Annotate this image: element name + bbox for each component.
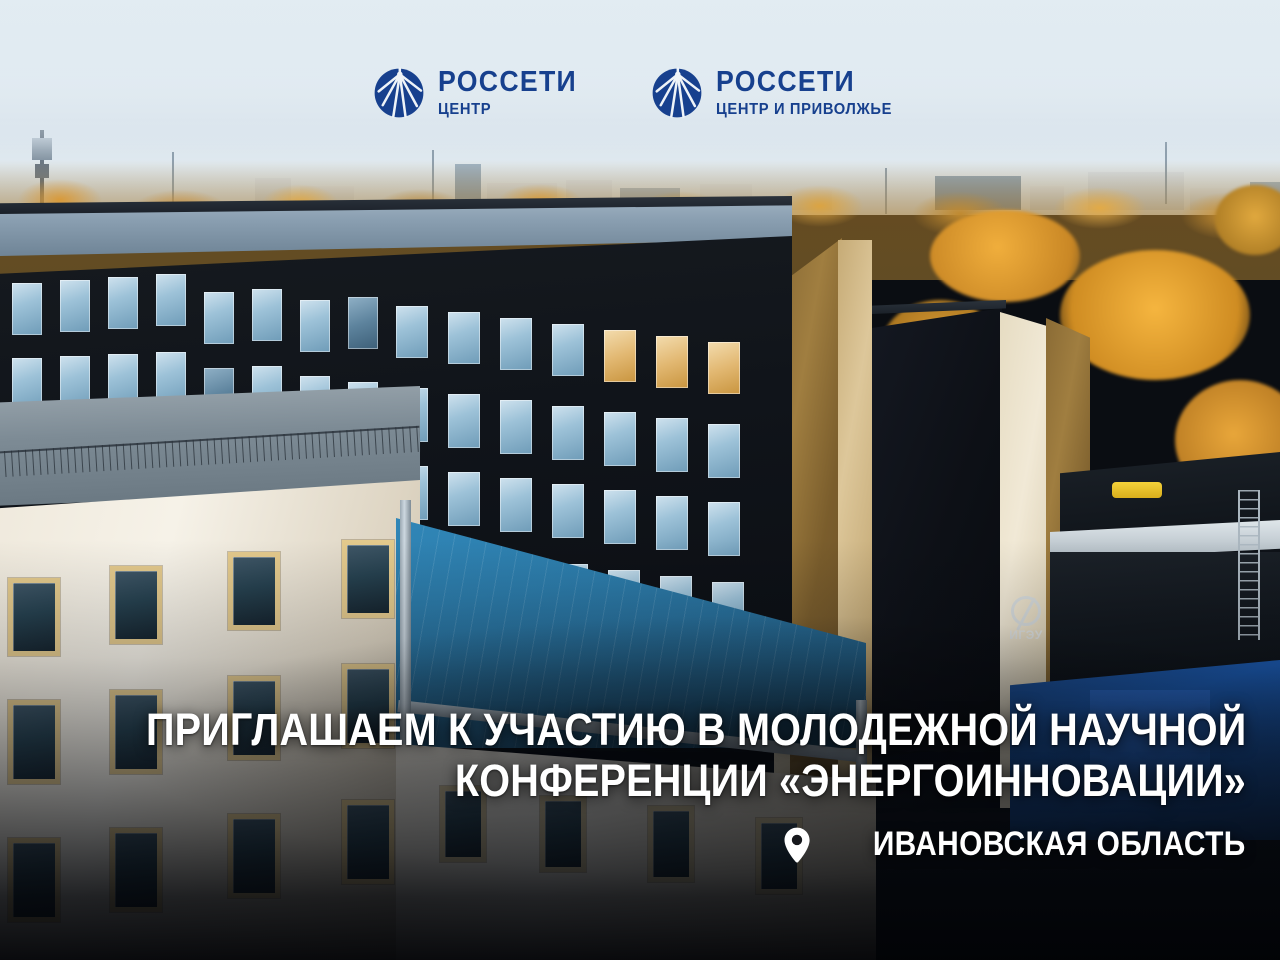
- logo-subtitle: ЦЕНТР: [438, 102, 577, 118]
- logo-text-block: РОССЕТИ ЦЕНТР: [438, 68, 589, 118]
- rooftop-equipment: [1112, 482, 1162, 498]
- rosseti-rays-circle-icon: [373, 67, 425, 119]
- logo-rosseti-center: РОССЕТИ ЦЕНТР: [373, 67, 589, 119]
- headline-line-2: КОНФЕРЕНЦИИ «ЭНЕРГОИННОВАЦИИ»: [455, 756, 1246, 807]
- map-pin-icon: [783, 827, 811, 863]
- logo-text-block: РОССЕТИ ЦЕНТР И ПРИВОЛЖЬЕ: [716, 68, 907, 118]
- rosseti-rays-circle-icon: [651, 67, 703, 119]
- logo-bar: РОССЕТИ ЦЕНТР РОССЕТИ ЦЕ: [0, 52, 1280, 134]
- logo-rosseti-center-privolzhye: РОССЕТИ ЦЕНТР И ПРИВОЛЖЬЕ: [651, 67, 907, 119]
- autumn-tree: [930, 210, 1080, 302]
- logo-brand: РОССЕТИ: [438, 68, 577, 97]
- logo-subtitle: ЦЕНТР И ПРИВОЛЖЬЕ: [716, 102, 892, 118]
- emblem-ring-icon: [1011, 596, 1041, 626]
- emblem-label: ИГЭУ: [1009, 628, 1042, 642]
- location-row: ИВАНОВСКАЯ ОБЛАСТЬ: [783, 825, 1246, 864]
- roof-ladder: [1238, 490, 1260, 640]
- caption-block: ПРИГЛАШАЕМ К УЧАСТИЮ В МОЛОДЕЖНОЙ НАУЧНО…: [0, 705, 1246, 864]
- university-emblem: ИГЭУ: [1004, 588, 1048, 650]
- logo-brand: РОССЕТИ: [716, 68, 892, 97]
- poster-canvas: ИГЭУ: [0, 0, 1280, 960]
- location-label: ИВАНОВСКАЯ ОБЛАСТЬ: [873, 825, 1246, 864]
- headline-line-1: ПРИГЛАШАЕМ К УЧАСТИЮ В МОЛОДЕЖНОЙ НАУЧНО…: [146, 705, 1246, 756]
